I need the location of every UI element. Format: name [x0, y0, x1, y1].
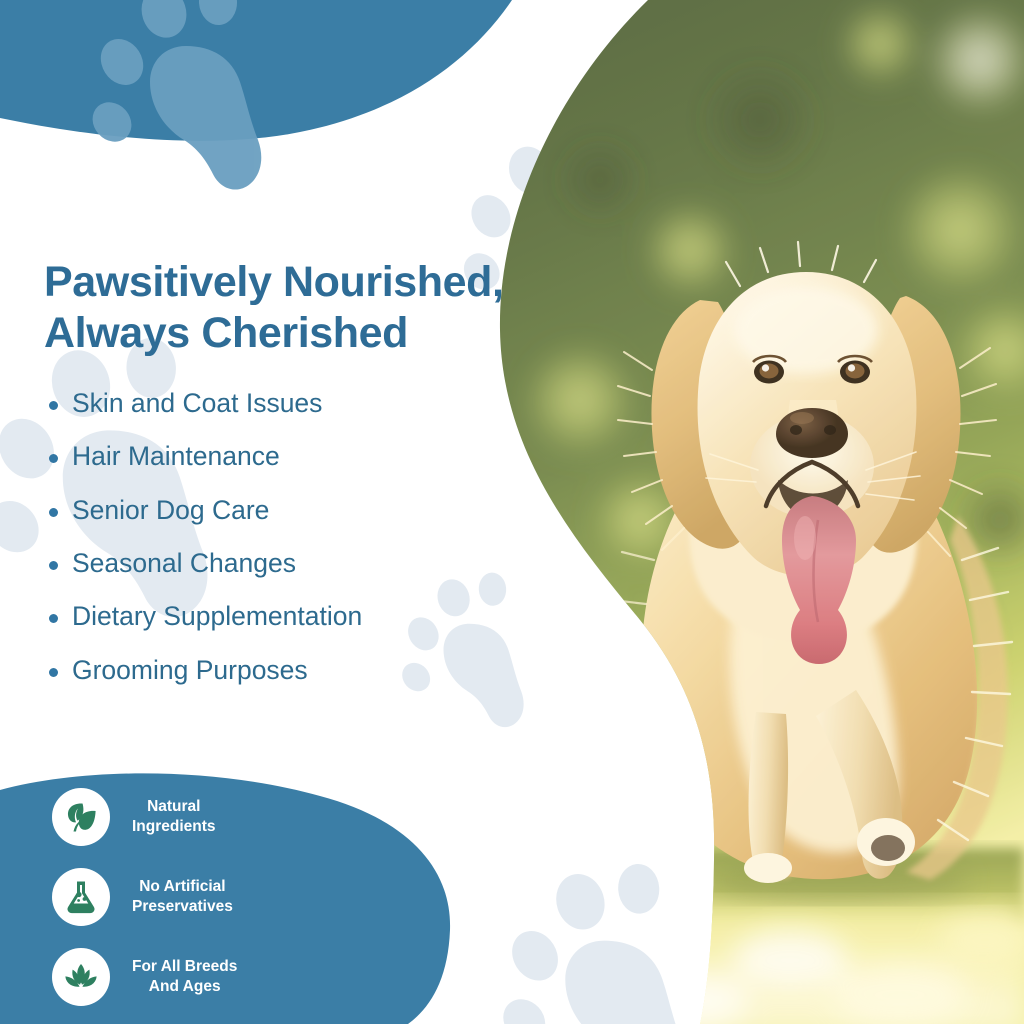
badge-line-2: Preservatives — [132, 897, 233, 917]
badge-line-1: No Artificial — [132, 877, 233, 897]
poster-canvas: Pawsitively Nourished, Always Cherished … — [0, 0, 1024, 1024]
badge-line-2: Ingredients — [132, 817, 216, 837]
badge-no-artificial-preservatives: No Artificial Preservatives — [52, 868, 233, 926]
headline-line-1: Pawsitively Nourished, — [44, 258, 504, 306]
badge-label: No Artificial Preservatives — [132, 877, 233, 917]
benefits-list: Skin and Coat Issues Hair Maintenance Se… — [44, 390, 474, 710]
lotus-icon — [52, 948, 110, 1006]
badge-label: For All Breeds And Ages — [132, 957, 237, 997]
list-item: Senior Dog Care — [44, 497, 474, 525]
badge-line-1: For All Breeds — [132, 957, 237, 977]
badge-label: Natural Ingredients — [132, 797, 216, 837]
badge-line-2: And Ages — [132, 977, 237, 997]
flask-icon — [52, 868, 110, 926]
headline-line-2: Always Cherished — [44, 308, 514, 359]
page-title: Pawsitively Nourished, Always Cherished — [44, 257, 514, 358]
badge-for-all-breeds: For All Breeds And Ages — [52, 948, 237, 1006]
list-item: Seasonal Changes — [44, 550, 474, 578]
list-item: Dietary Supplementation — [44, 603, 474, 631]
badge-line-1: Natural — [132, 797, 216, 817]
badge-natural-ingredients: Natural Ingredients — [52, 788, 216, 846]
list-item: Skin and Coat Issues — [44, 390, 474, 418]
leaf-icon — [52, 788, 110, 846]
list-item: Grooming Purposes — [44, 657, 474, 685]
list-item: Hair Maintenance — [44, 443, 474, 471]
